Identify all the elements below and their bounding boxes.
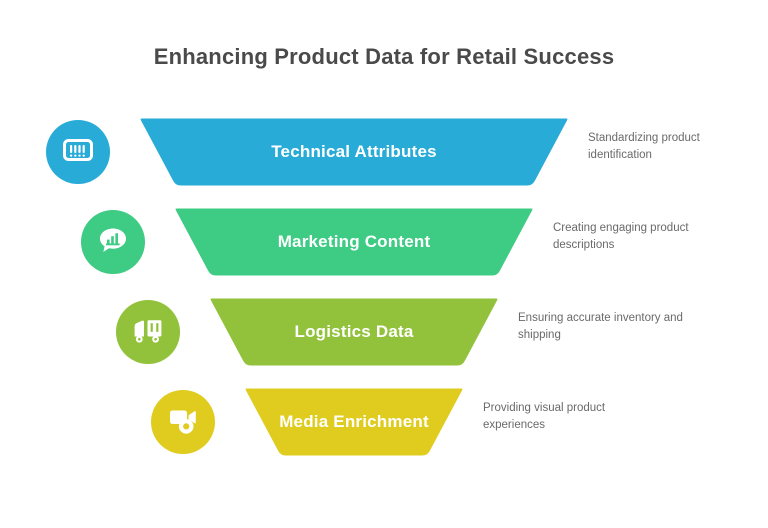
video-camera-icon: [165, 402, 201, 443]
stage-icon-4[interactable]: [151, 390, 215, 454]
funnel-stage-desc-2: Creating engaging product descriptions: [553, 220, 723, 253]
stage-icon-2[interactable]: [81, 210, 145, 274]
page-title: Enhancing Product Data for Retail Succes…: [0, 44, 768, 70]
funnel-stage-desc-1: Standardizing product identification: [588, 130, 758, 163]
stage-icon-3[interactable]: [116, 300, 180, 364]
funnel-band-label-2: Marketing Content: [278, 232, 431, 252]
stage-icon-1[interactable]: [46, 120, 110, 184]
funnel-stage-desc-3: Ensuring accurate inventory and shipping: [518, 310, 688, 343]
funnel-band-2[interactable]: Marketing Content: [169, 202, 539, 282]
funnel-stage-3: Logistics Data Ensuring accurate invento…: [0, 292, 768, 384]
chat-bar-chart-icon: [96, 223, 130, 262]
funnel-stage-2: Marketing Content Creating engaging prod…: [0, 202, 768, 294]
funnel-band-label-1: Technical Attributes: [271, 142, 437, 162]
funnel-infographic: Enhancing Product Data for Retail Succes…: [0, 0, 768, 528]
funnel-stage-desc-4: Providing visual product experiences: [483, 400, 653, 433]
delivery-truck-icon: [130, 312, 166, 353]
funnel-band-1[interactable]: Technical Attributes: [134, 112, 574, 192]
funnel-band-4[interactable]: Media Enrichment: [239, 382, 469, 462]
funnel-band-3[interactable]: Logistics Data: [204, 292, 504, 372]
funnel-band-label-3: Logistics Data: [295, 322, 414, 342]
barcode-icon: [61, 133, 95, 172]
funnel-stage-4: Media Enrichment Providing visual produc…: [0, 382, 768, 474]
funnel-band-label-4: Media Enrichment: [279, 412, 429, 432]
funnel-stage-1: Technical Attributes Standardizing produ…: [0, 112, 768, 204]
